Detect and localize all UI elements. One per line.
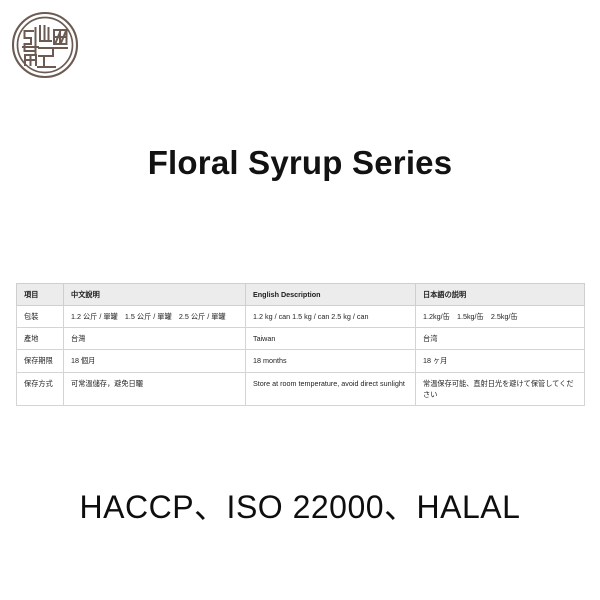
cell-japanese: 常温保存可能、直射日光を避けて保管してください	[416, 372, 585, 405]
cell-item: 產地	[17, 328, 64, 350]
table-row: 產地 台灣 Taiwan 台湾	[17, 328, 585, 350]
circular-seal-logo	[11, 11, 79, 79]
page-title: Floral Syrup Series	[0, 143, 600, 183]
cell-japanese: 台湾	[416, 328, 585, 350]
column-header-item: 項目	[17, 284, 64, 306]
cell-japanese: 1.2kg/缶 1.5kg/缶 2.5kg/缶	[416, 306, 585, 328]
column-header-english: English Description	[246, 284, 416, 306]
product-spec-table: 項目 中文說明 English Description 日本語の説明 包裝 1.…	[16, 283, 585, 406]
cell-chinese: 18 個月	[64, 350, 246, 372]
column-header-japanese: 日本語の説明	[416, 284, 585, 306]
cell-item: 保存方式	[17, 372, 64, 405]
table-header-row: 項目 中文說明 English Description 日本語の説明	[17, 284, 585, 306]
cell-japanese: 18 ヶ月	[416, 350, 585, 372]
cell-english: 18 months	[246, 350, 416, 372]
column-header-chinese: 中文說明	[64, 284, 246, 306]
certifications-text: HACCP、ISO 22000、HALAL	[0, 488, 600, 526]
cell-item: 包裝	[17, 306, 64, 328]
cell-english: 1.2 kg / can 1.5 kg / can 2.5 kg / can	[246, 306, 416, 328]
table-row: 包裝 1.2 公斤 / 單罐 1.5 公斤 / 單罐 2.5 公斤 / 單罐 1…	[17, 306, 585, 328]
cell-chinese: 1.2 公斤 / 單罐 1.5 公斤 / 單罐 2.5 公斤 / 單罐	[64, 306, 246, 328]
table-row: 保存期限 18 個月 18 months 18 ヶ月	[17, 350, 585, 372]
brand-logo	[11, 11, 79, 79]
cell-chinese: 台灣	[64, 328, 246, 350]
cell-english: Store at room temperature, avoid direct …	[246, 372, 416, 405]
cell-chinese: 可常溫儲存，避免日曬	[64, 372, 246, 405]
table-row: 保存方式 可常溫儲存，避免日曬 Store at room temperatur…	[17, 372, 585, 405]
cell-english: Taiwan	[246, 328, 416, 350]
cell-item: 保存期限	[17, 350, 64, 372]
